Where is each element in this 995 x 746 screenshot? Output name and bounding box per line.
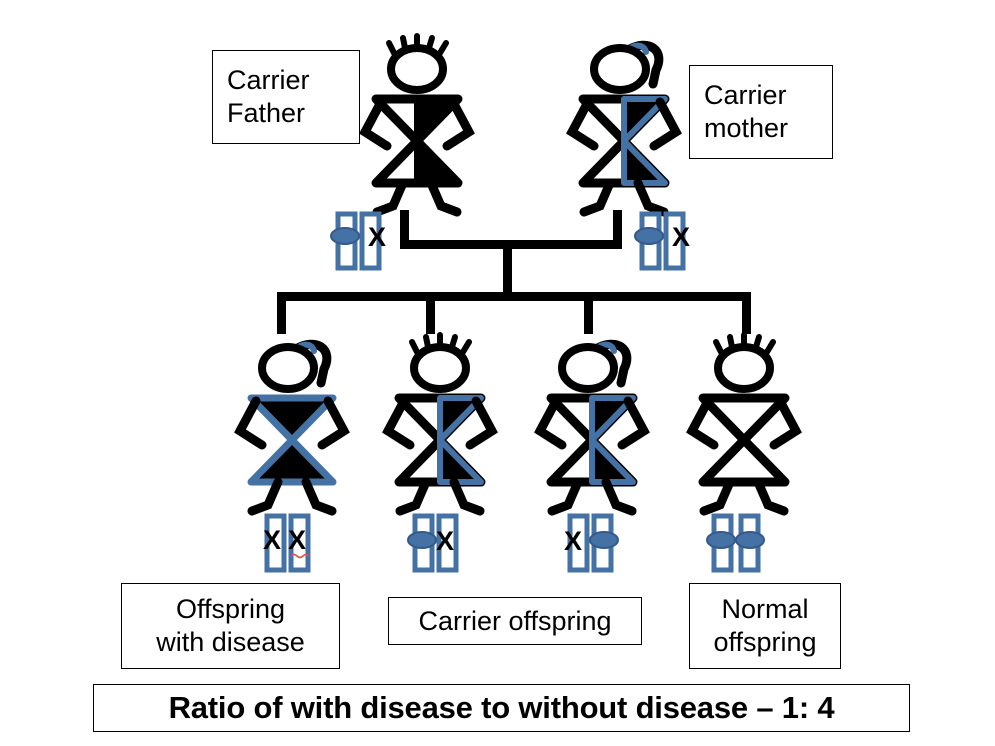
- allele-marker-ellipse: [635, 228, 663, 244]
- offspring-3-head: [562, 347, 614, 389]
- label-carrier-father: Carrier Father: [212, 50, 360, 144]
- allele-marker-ellipse: [590, 532, 618, 548]
- allele-marker-x-left: X: [263, 525, 281, 555]
- figure-offspring-1: [238, 335, 346, 513]
- offspring-4-head: [718, 347, 770, 389]
- offspring-1-torso-fill-full: [251, 398, 333, 482]
- label-normal-offspring: Normal offspring: [689, 583, 841, 669]
- sibship-drop-1: [277, 292, 286, 334]
- chromosomes-offspring-3: X: [558, 512, 628, 574]
- allele-marker-ellipse-right: [736, 532, 764, 548]
- figure-offspring-2: [386, 335, 494, 513]
- figure-carrier-mother: [570, 36, 678, 214]
- sibship-line-horizontal: [277, 292, 751, 301]
- figure-offspring-4: [690, 335, 798, 513]
- figure-offspring-3: [538, 335, 646, 513]
- allele-marker-x: X: [436, 526, 454, 556]
- offspring-4-torso-outline: [703, 398, 785, 482]
- sibship-drop-2: [426, 292, 435, 334]
- ratio-caption: Ratio of with disease to without disease…: [93, 684, 910, 732]
- offspring-1-head: [262, 347, 314, 389]
- label-carrier-offspring: Carrier offspring: [388, 597, 642, 645]
- sibship-drop-3: [584, 292, 593, 334]
- offspring-2-head: [414, 347, 466, 389]
- allele-marker-x: X: [368, 222, 386, 252]
- mother-head: [594, 48, 646, 90]
- allele-marker-x-right: X: [288, 525, 306, 555]
- allele-marker-ellipse: [408, 532, 436, 548]
- allele-marker-ellipse-left: [707, 532, 735, 548]
- allele-marker-x: X: [564, 526, 582, 556]
- pedigree-diagram: Carrier Father Carrier mother: [0, 0, 995, 746]
- allele-marker-ellipse: [331, 228, 359, 244]
- chromosomes-offspring-1: X X: [255, 512, 325, 574]
- label-offspring-with-disease: Offspring with disease: [121, 583, 340, 669]
- figure-carrier-father: [363, 36, 471, 214]
- chromosomes-mother: X: [630, 210, 700, 272]
- chromosomes-offspring-4: [700, 512, 780, 574]
- allele-marker-x: X: [672, 222, 690, 252]
- sibship-drop-4: [742, 292, 751, 334]
- father-head: [391, 48, 443, 90]
- label-carrier-mother: Carrier mother: [689, 65, 833, 159]
- chromosomes-father: X: [326, 210, 396, 272]
- descent-line-vertical: [503, 240, 512, 296]
- offspring-1-legs: [252, 482, 332, 511]
- chromosomes-offspring-2: X: [403, 512, 473, 574]
